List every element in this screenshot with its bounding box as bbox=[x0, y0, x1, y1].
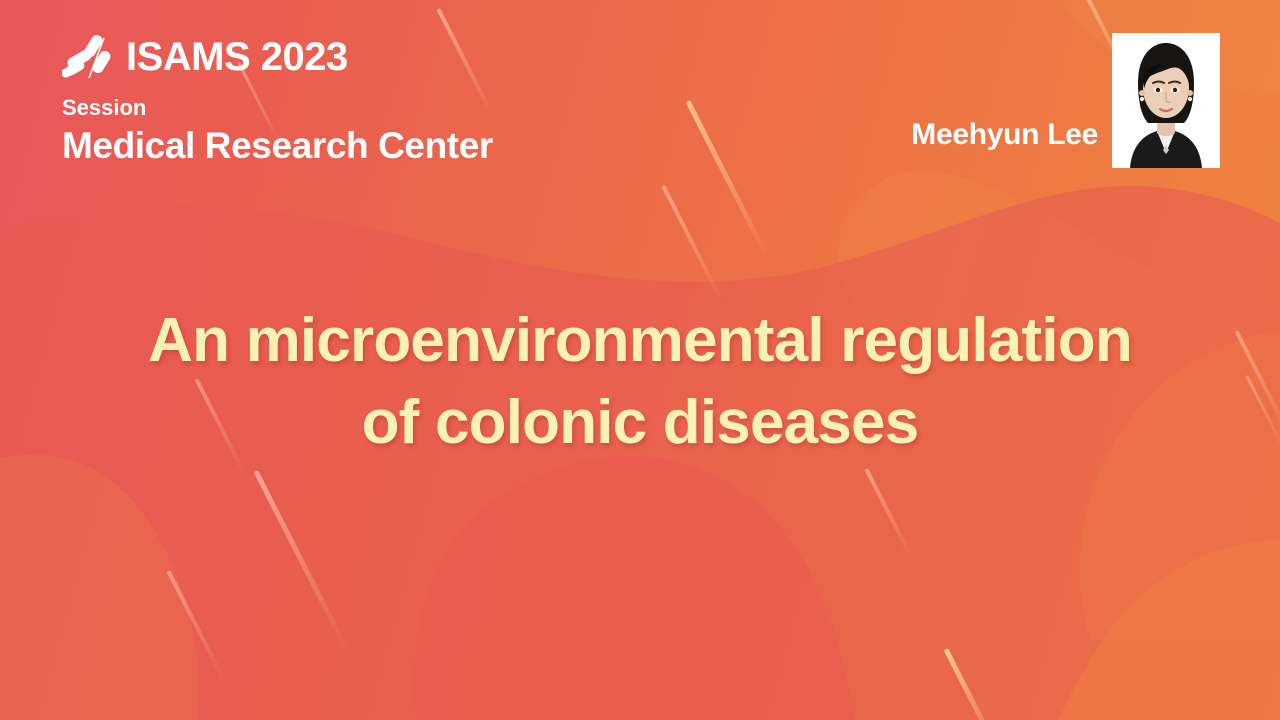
avatar bbox=[1112, 33, 1220, 168]
presenter-name: Meehyun Lee bbox=[911, 118, 1112, 168]
slide-header: ISAMS 2023 Session Medical Research Cent… bbox=[0, 0, 1280, 190]
title-line-1: An microenvironmental regulation bbox=[50, 300, 1230, 382]
streak-8 bbox=[254, 470, 349, 650]
brand-title: ISAMS 2023 bbox=[126, 37, 348, 77]
session-label: Session bbox=[62, 96, 146, 120]
presentation-slide: ISAMS 2023 Session Medical Research Cent… bbox=[0, 0, 1280, 720]
streak-11 bbox=[944, 648, 998, 720]
slide-title: An microenvironmental regulation of colo… bbox=[0, 300, 1280, 464]
session-name: Medical Research Center bbox=[62, 126, 493, 167]
wheat-sprig-icon bbox=[62, 32, 114, 82]
title-line-2: of colonic diseases bbox=[50, 382, 1230, 464]
brand-row: ISAMS 2023 bbox=[62, 32, 348, 82]
streak-4 bbox=[661, 185, 726, 307]
presenter-portrait bbox=[1112, 33, 1220, 168]
streak-10 bbox=[864, 468, 913, 559]
presenter-block: Meehyun Lee bbox=[911, 33, 1220, 168]
streak-9 bbox=[166, 570, 226, 683]
